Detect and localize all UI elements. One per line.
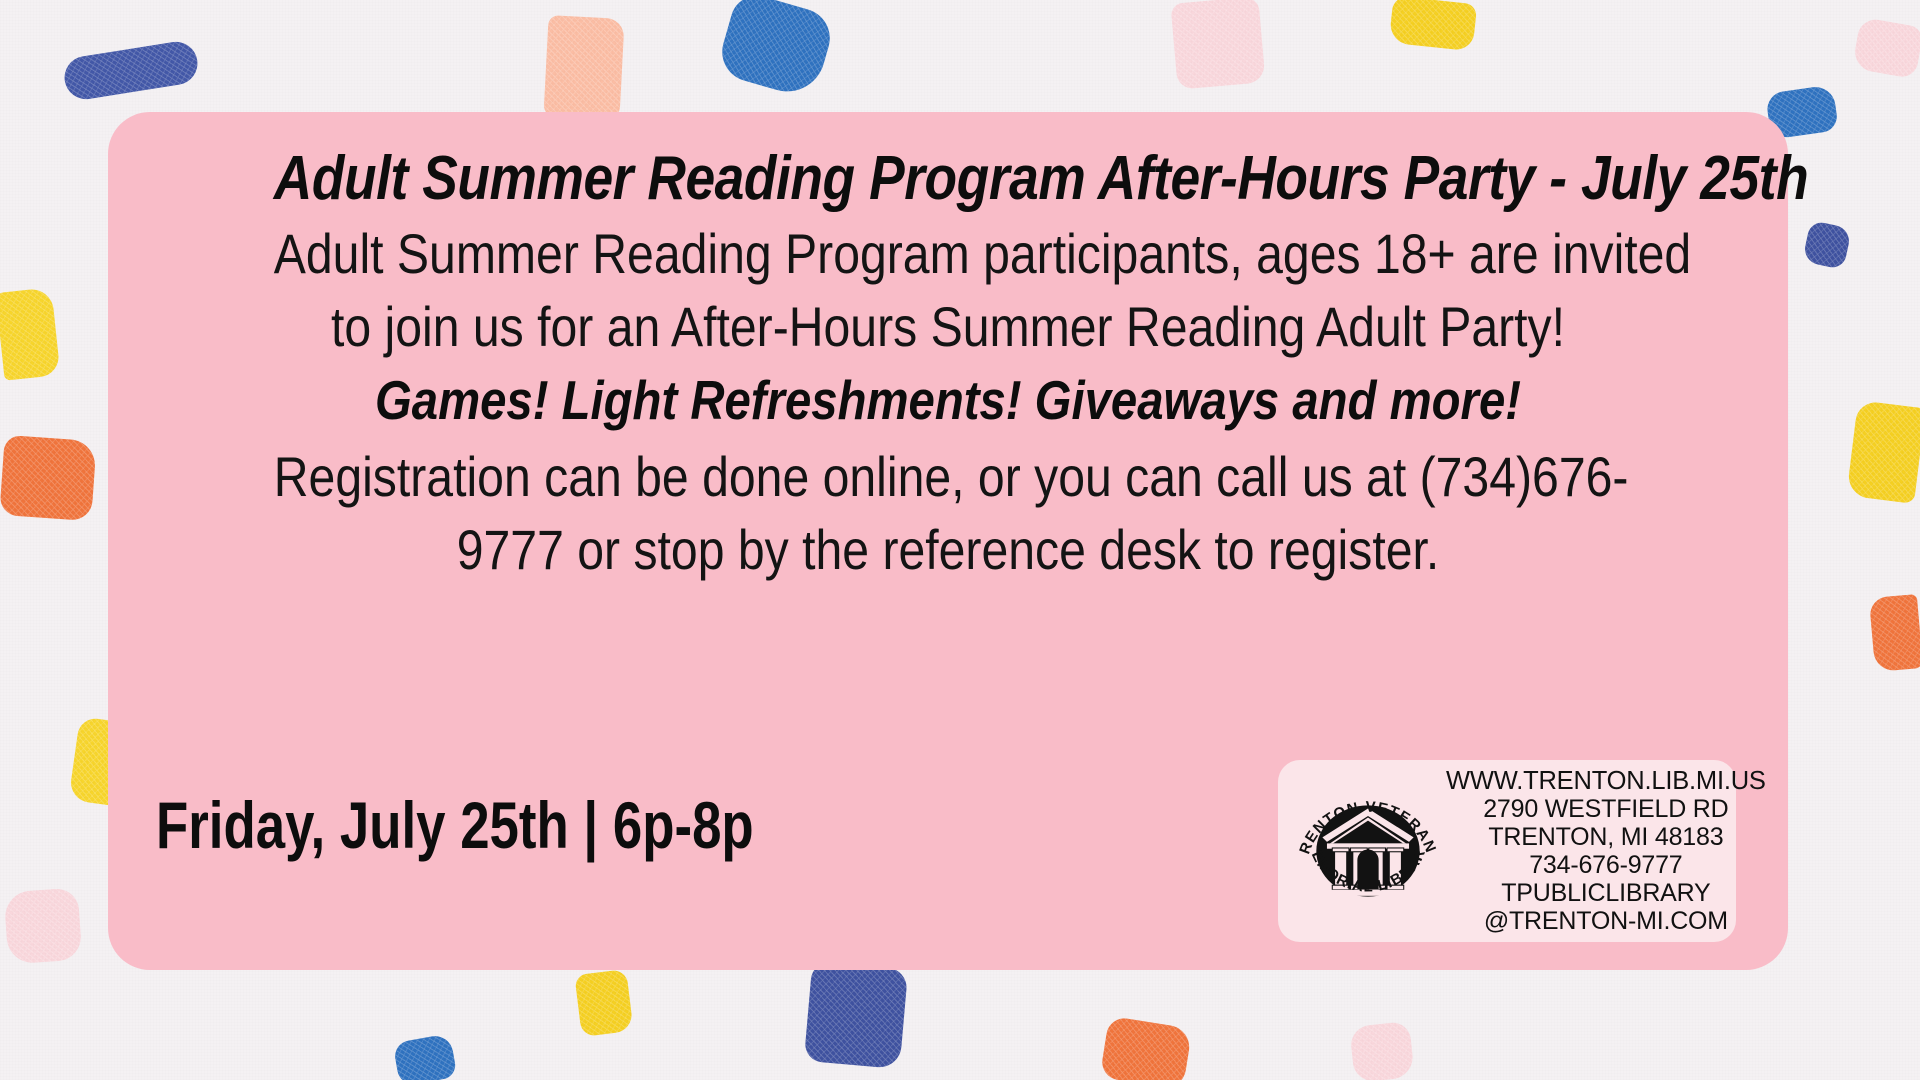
pale-pink-chip-bottom-shape xyxy=(1349,1021,1415,1080)
body-line-1: Adult Summer Reading Program participant… xyxy=(274,218,1622,291)
blue-chip-bottom-left-shape xyxy=(393,1033,458,1080)
body-line-4: 9777 or stop by the reference desk to re… xyxy=(274,514,1622,587)
contact-line-4: 734-676-9777 xyxy=(1446,851,1766,879)
library-logo-block: TRENTON VETERANS MEMORIAL LIBRARY WWW.TR… xyxy=(1278,760,1736,942)
body-line-2: to join us for an After-Hours Summer Rea… xyxy=(274,291,1622,364)
yellow-chunk-right-mid-shape xyxy=(1846,400,1920,504)
blue-bar-top-left-shape xyxy=(61,39,200,102)
orange-chip-right-low-shape xyxy=(1869,594,1920,672)
event-flyer: Adult Summer Reading Program After-Hours… xyxy=(0,0,1920,1080)
blue-diamond-top-shape xyxy=(715,0,837,100)
orange-wedge-bottom-shape xyxy=(1100,1016,1193,1080)
orange-triangle-left-shape xyxy=(0,435,97,521)
blue-chip-right-lower-shape xyxy=(1802,220,1852,270)
library-seal-icon: TRENTON VETERANS MEMORIAL LIBRARY xyxy=(1292,775,1444,927)
pale-pink-chip-right-top-shape xyxy=(1852,17,1920,79)
contact-line-3: TRENTON, MI 48183 xyxy=(1446,823,1766,851)
yellow-chunk-top-right-shape xyxy=(1389,0,1477,51)
contact-line-2: 2790 WESTFIELD RD xyxy=(1446,795,1766,823)
body-line-3: Registration can be done online, or you … xyxy=(274,441,1622,514)
yellow-wedge-left-upper-shape xyxy=(0,287,60,380)
contact-line-6: @TRENTON-MI.COM xyxy=(1446,907,1766,935)
event-date-time: Friday, July 25th | 6p-8p xyxy=(156,792,754,858)
pale-pink-wedge-top-shape xyxy=(1170,0,1265,90)
blue-square-bottom-shape xyxy=(804,961,908,1069)
yellow-chip-bottom-shape xyxy=(574,969,633,1037)
peach-trapezoid-top-shape xyxy=(543,15,624,121)
pale-pink-blob-left-bot-shape xyxy=(4,888,83,965)
contact-line-1: WWW.TRENTON.LIB.MI.US xyxy=(1446,767,1766,796)
pink-content-card: Adult Summer Reading Program After-Hours… xyxy=(108,112,1788,970)
library-contact-info: WWW.TRENTON.LIB.MI.US2790 WESTFIELD RDTR… xyxy=(1444,767,1766,936)
page-title: Adult Summer Reading Program After-Hours… xyxy=(274,146,1622,212)
contact-line-5: TPUBLICLIBRARY xyxy=(1446,879,1766,907)
body-highlight: Games! Light Refreshments! Giveaways and… xyxy=(274,365,1622,437)
